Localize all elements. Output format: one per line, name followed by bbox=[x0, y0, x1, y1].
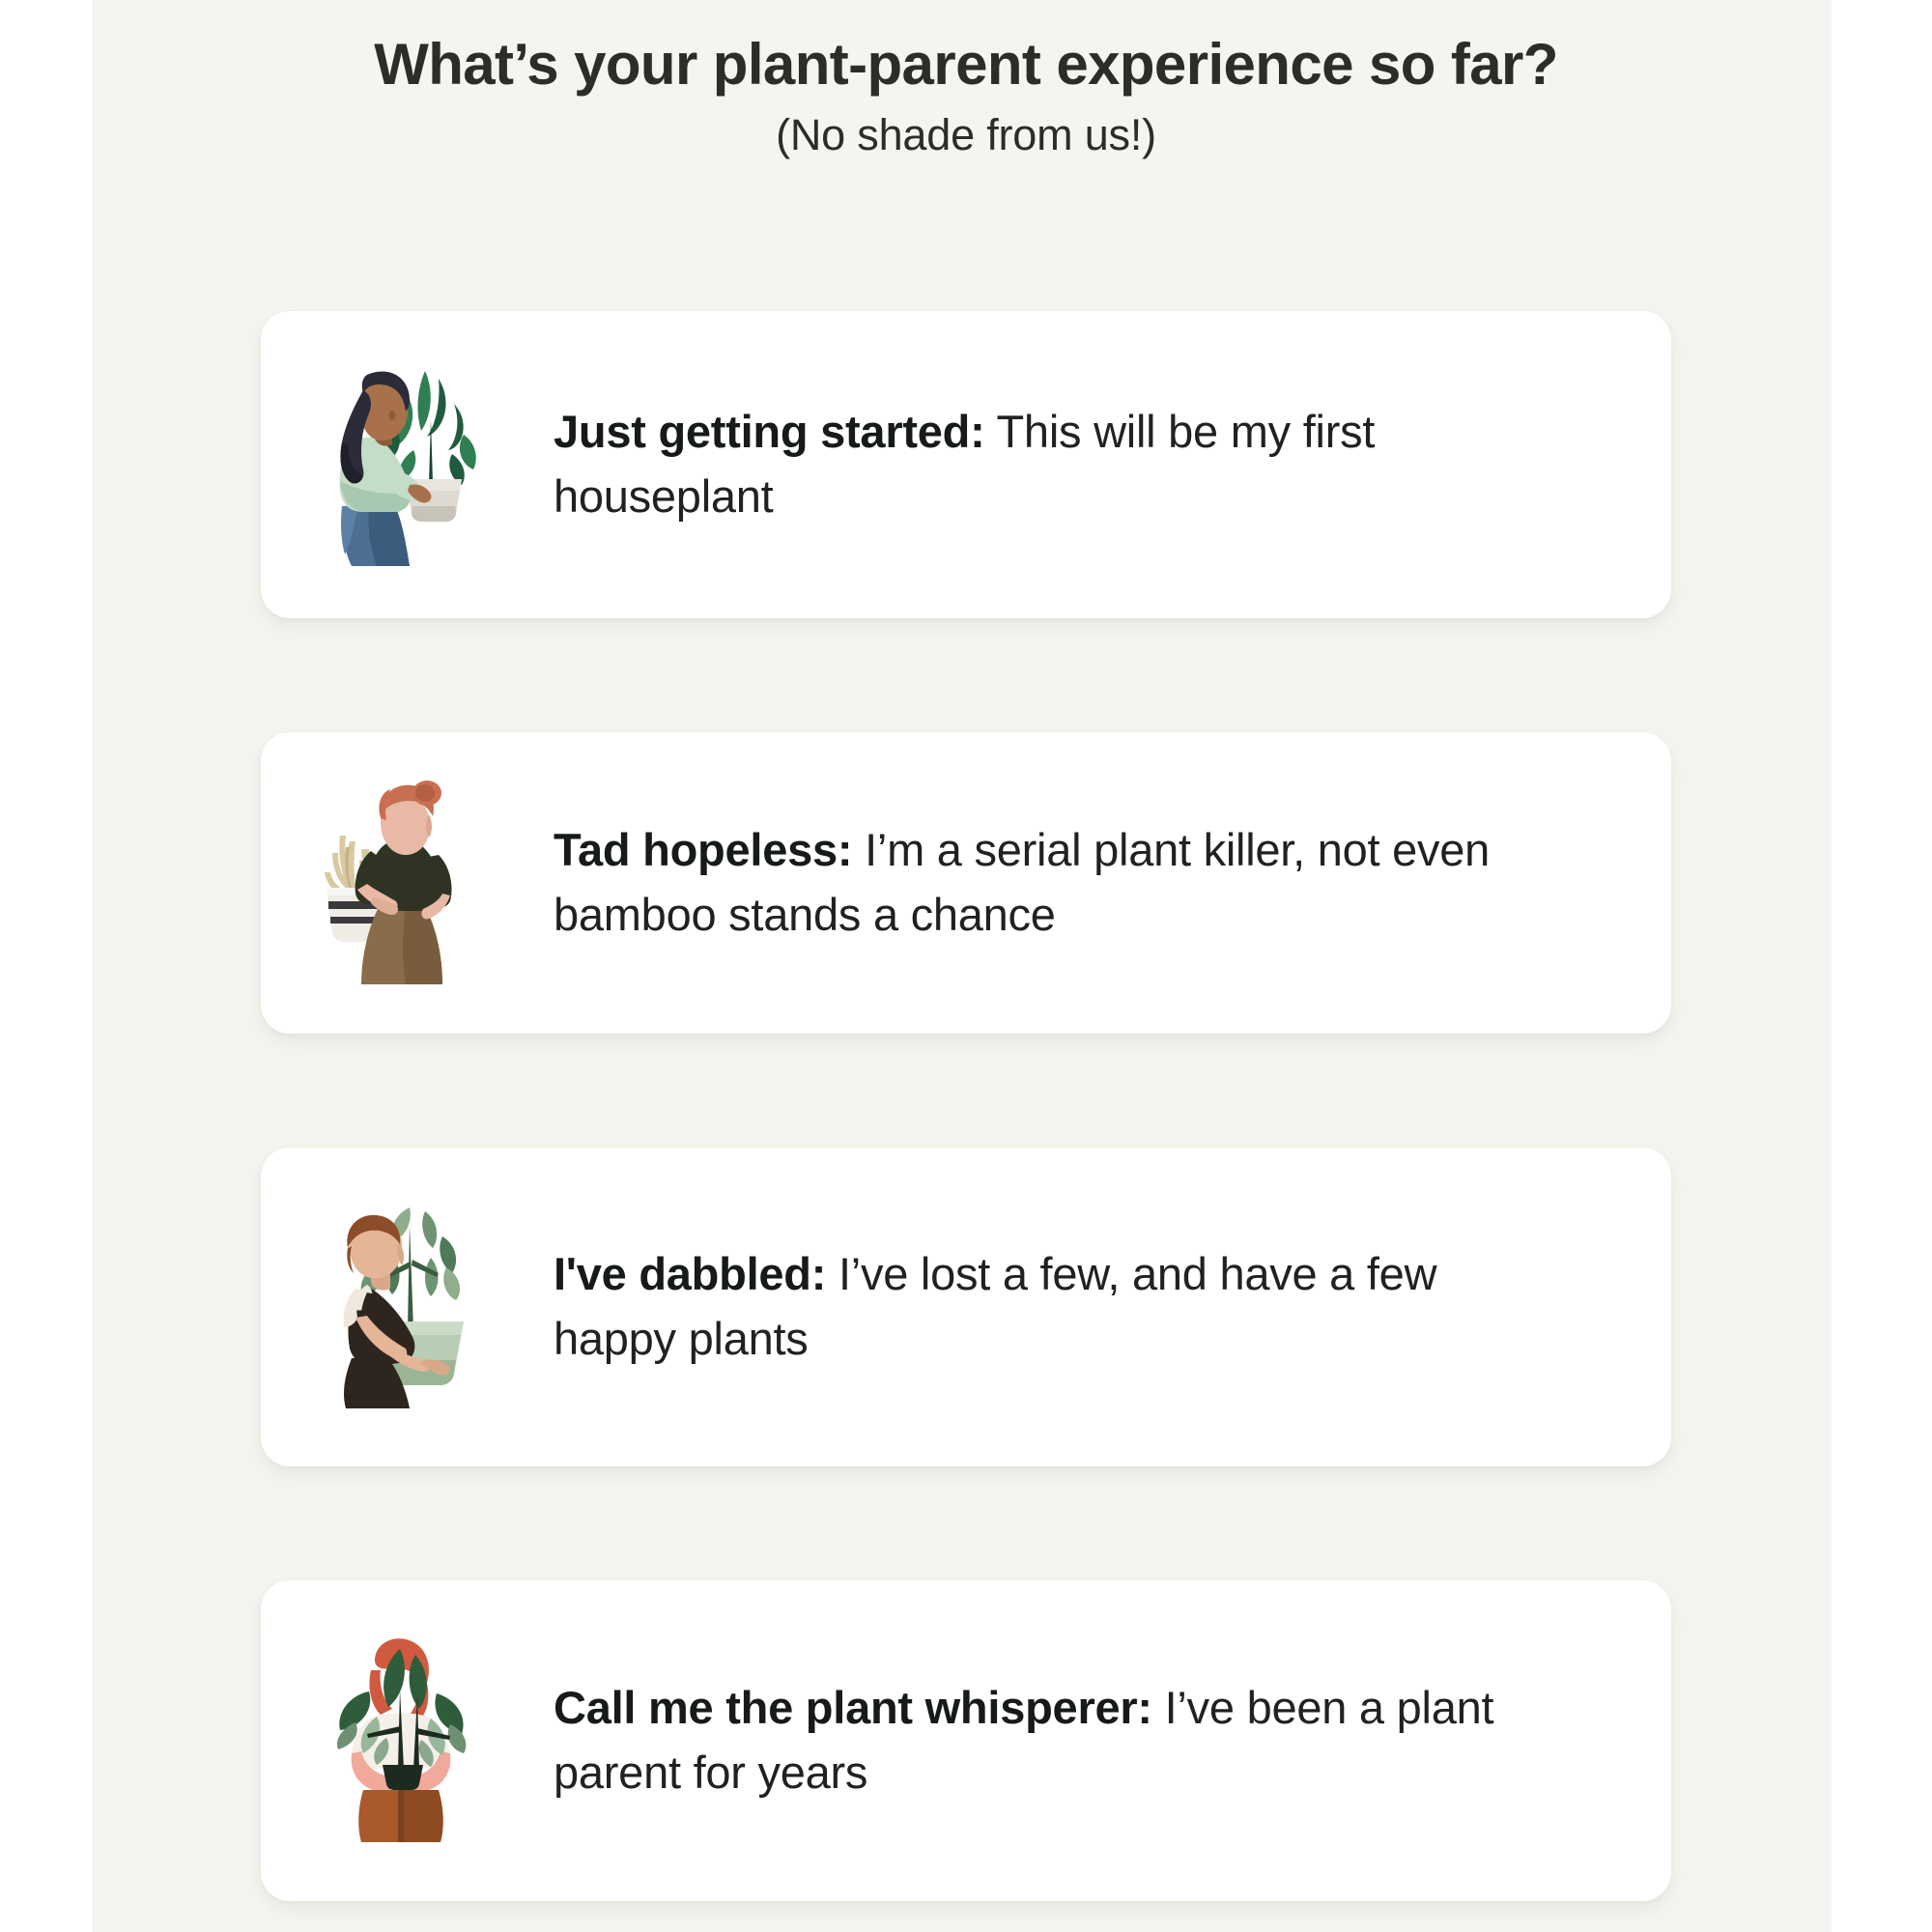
screen: What’s your plant-parent experience so f… bbox=[0, 0, 1932, 1932]
illustration-person-overalls-fiddle-leaf-icon bbox=[317, 1204, 486, 1411]
option-card-plant-whisperer[interactable]: Call me the plant whisperer: I’ve been a… bbox=[261, 1580, 1671, 1901]
option-text: Call me the plant whisperer: I’ve been a… bbox=[486, 1676, 1671, 1804]
option-prefix: Call me the plant whisperer: bbox=[554, 1682, 1152, 1733]
option-text: I've dabbled: I’ve lost a few, and have … bbox=[486, 1242, 1671, 1371]
option-prefix: I've dabbled: bbox=[554, 1248, 826, 1299]
option-text: Tad hopeless: I’m a serial plant killer,… bbox=[486, 818, 1671, 947]
option-card-ive-dabbled[interactable]: I've dabbled: I’ve lost a few, and have … bbox=[261, 1148, 1671, 1466]
page-subtitle: (No shade from us!) bbox=[0, 109, 1932, 161]
option-prefix: Just getting started: bbox=[554, 406, 985, 457]
illustration-woman-bun-olive-top-icon bbox=[317, 780, 486, 987]
illustration-woman-mint-sweater-icon bbox=[317, 361, 486, 569]
illustration-person-behind-leafy-plant-icon bbox=[317, 1637, 486, 1845]
options-list: Just getting started: This will be my fi… bbox=[261, 311, 1671, 1901]
page-title: What’s your plant-parent experience so f… bbox=[0, 31, 1932, 99]
option-text: Just getting started: This will be my fi… bbox=[486, 400, 1671, 528]
option-card-tad-hopeless[interactable]: Tad hopeless: I’m a serial plant killer,… bbox=[261, 732, 1671, 1034]
header: What’s your plant-parent experience so f… bbox=[0, 31, 1932, 161]
option-prefix: Tad hopeless: bbox=[554, 824, 852, 875]
option-card-just-getting-started[interactable]: Just getting started: This will be my fi… bbox=[261, 311, 1671, 618]
